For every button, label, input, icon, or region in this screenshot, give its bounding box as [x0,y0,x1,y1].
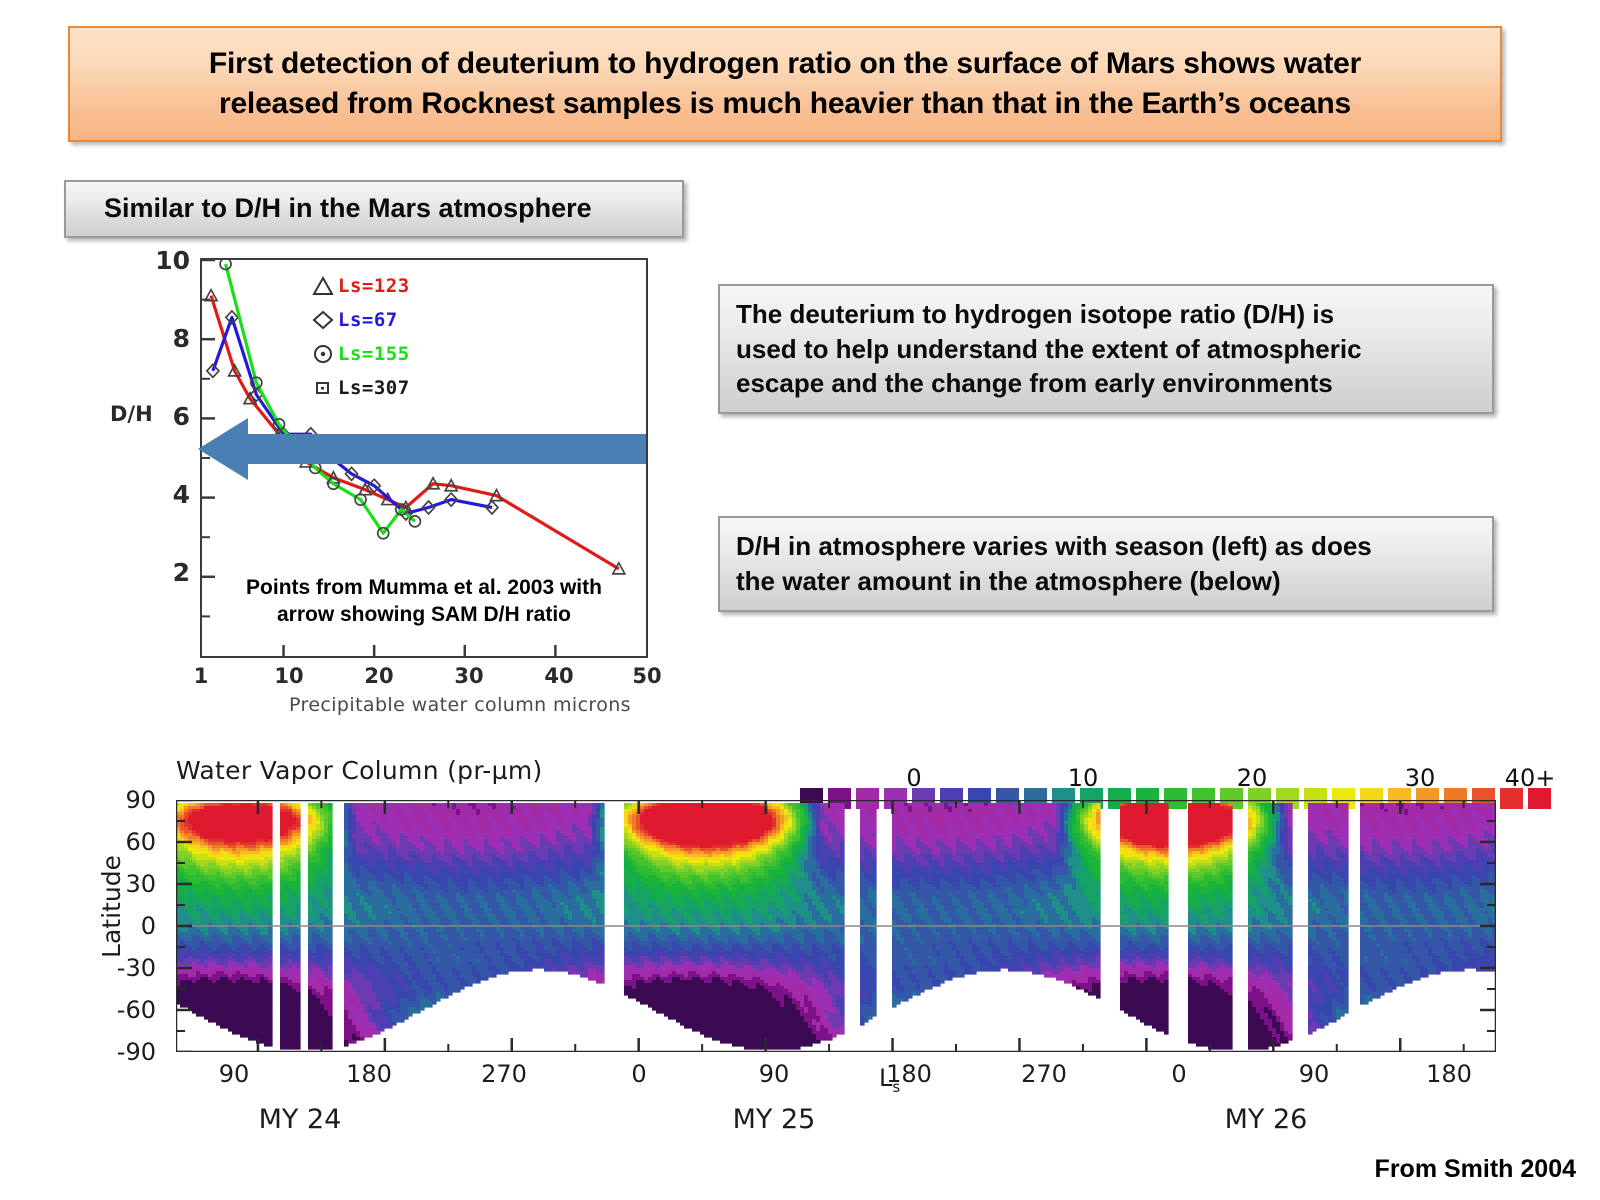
callout-season-line-2: the water amount in the atmosphere (belo… [736,566,1281,596]
dh-ytick-6: 6 [144,402,190,431]
wv-xtick-7: 270 [1014,1060,1074,1088]
dh-legend-label-ls67: Ls=67 [338,309,398,331]
wv-xtick-5: 90 [744,1060,804,1088]
source-credit: From Smith 2004 [1375,1155,1576,1184]
wv-ytick-neg60: -60 [100,996,156,1024]
slide-title-line-1: First detection of deuterium to hydrogen… [209,47,1361,80]
wv-x-axis-title: Ls [879,1064,900,1096]
wv-group-label-my24: MY 24 [230,1104,370,1135]
wv-ytick-0: 0 [100,912,156,940]
wv-xtick-3: 270 [474,1060,534,1088]
dh-xtick-1: 1 [176,664,226,688]
dh-legend-item-ls307: Ls=307 [310,372,510,403]
circle-marker-icon [310,343,336,365]
callout-season-line-1: D/H in atmosphere varies with season (le… [736,531,1372,561]
callout-season-text: D/H in atmosphere varies with season (le… [736,529,1372,598]
wv-ytick-60: 60 [100,828,156,856]
dh-legend: Ls=123 Ls=67 Ls=155 Ls=307 [310,270,510,406]
slide-title-banner: First detection of deuterium to hydrogen… [68,26,1502,142]
wv-ytick-90: 90 [100,786,156,814]
wv-xtick-10: 180 [1419,1060,1479,1088]
wv-xtick-2: 180 [339,1060,399,1088]
wv-colorbar-swatch-26 [1528,788,1551,809]
slide-title-text: First detection of deuterium to hydrogen… [209,44,1361,124]
wv-colorbar-swatch-25 [1500,788,1523,809]
dh-ytick-2: 2 [144,558,190,587]
wv-xtick-1: 90 [204,1060,264,1088]
dh-ytick-8: 8 [144,324,190,353]
dh-legend-label-ls307: Ls=307 [338,377,410,399]
dh-legend-item-ls155: Ls=155 [310,338,510,369]
dh-legend-label-ls155: Ls=155 [338,343,410,365]
dh-legend-label-ls123: Ls=123 [338,275,410,297]
wv-plot-area [176,800,1496,1052]
dh-xtick-40: 40 [534,664,584,688]
sam-dh-arrow-icon [196,416,646,482]
wv-xtick-9: 90 [1284,1060,1344,1088]
wv-ytick-neg30: -30 [100,954,156,982]
callout-similar-atmosphere: Similar to D/H in the Mars atmosphere [64,180,684,238]
callout-seasonal-variation: D/H in atmosphere varies with season (le… [718,516,1494,612]
wv-ytick-30: 30 [100,870,156,898]
wv-xtick-4: 0 [609,1060,669,1088]
wv-ytick-neg90: -90 [100,1038,156,1066]
callout-isotope-text: The deuterium to hydrogen isotope ratio … [736,297,1362,401]
slide-title-line-2: released from Rocknest samples is much h… [219,87,1351,120]
dh-caption-line-1: Points from Mumma et al. 2003 with [246,576,602,599]
dh-xtick-50: 50 [622,664,672,688]
dh-legend-item-ls123: Ls=123 [310,270,510,301]
dh-legend-item-ls67: Ls=67 [310,304,510,335]
callout-isotope-line-1: The deuterium to hydrogen isotope ratio … [736,299,1334,329]
dh-xtick-20: 20 [354,664,404,688]
dh-caption-line-2: arrow showing SAM D/H ratio [277,603,571,626]
callout-similar-text: Similar to D/H in the Mars atmosphere [82,191,592,227]
square-marker-icon [310,377,336,399]
dh-x-axis-title: Precipitable water column microns [250,694,670,716]
wv-group-label-my26: MY 26 [1196,1104,1336,1135]
wv-chart-title: Water Vapor Column (pr-µm) [176,756,543,785]
triangle-marker-icon [310,275,336,297]
dh-xtick-30: 30 [444,664,494,688]
diamond-marker-icon [310,309,336,331]
dh-chart-caption: Points from Mumma et al. 2003 with arrow… [214,574,634,629]
dh-ytick-4: 4 [144,480,190,509]
dh-ytick-10: 10 [144,246,190,275]
callout-isotope-line-3: escape and the change from early environ… [736,368,1333,398]
callout-isotope-line-2: used to help understand the extent of at… [736,334,1362,364]
wv-xtick-8: 0 [1149,1060,1209,1088]
wv-group-label-my25: MY 25 [704,1104,844,1135]
water-vapor-chart: Water Vapor Column (pr-µm) Latitude 0 10… [84,742,1524,1142]
callout-isotope-explanation: The deuterium to hydrogen isotope ratio … [718,284,1494,414]
dh-xtick-10: 10 [264,664,314,688]
